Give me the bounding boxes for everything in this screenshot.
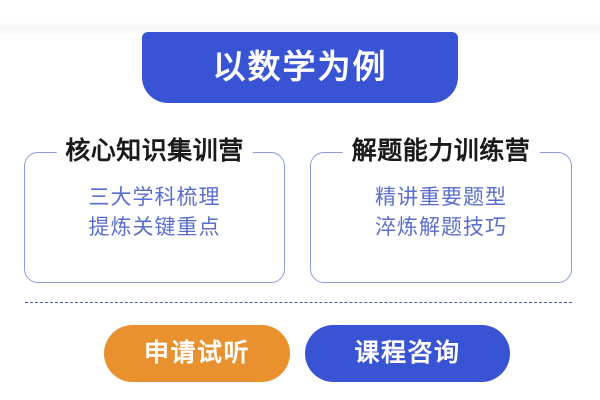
course-card-line: 提炼关键重点	[25, 213, 284, 243]
course-card-group: 核心知识集训营 三大学科梳理 提炼关键重点 解题能力训练营 精讲重要题型 淬炼解…	[24, 152, 572, 283]
promo-page: 以数学为例 核心知识集训营 三大学科梳理 提炼关键重点 解题能力训练营 精讲重要…	[0, 0, 600, 400]
dashed-divider	[25, 302, 572, 303]
action-button-row: 申请试听 课程咨询	[0, 325, 600, 383]
course-card-title: 解题能力训练营	[343, 136, 540, 166]
course-card-body: 三大学科梳理 提炼关键重点	[25, 183, 284, 243]
apply-trial-button[interactable]: 申请试听	[104, 325, 290, 382]
course-card-line: 精讲重要题型	[311, 183, 571, 213]
section-title-banner: 以数学为例	[142, 32, 458, 103]
course-card-line: 三大学科梳理	[25, 183, 284, 213]
course-card-core-knowledge[interactable]: 核心知识集训营 三大学科梳理 提炼关键重点	[24, 152, 285, 283]
section-title-text: 以数学为例	[213, 50, 388, 85]
course-consult-button[interactable]: 课程咨询	[305, 325, 510, 382]
course-card-body: 精讲重要题型 淬炼解题技巧	[311, 183, 571, 243]
course-card-line: 淬炼解题技巧	[311, 213, 571, 243]
course-card-problem-solving[interactable]: 解题能力训练营 精讲重要题型 淬炼解题技巧	[310, 152, 572, 283]
course-card-title: 核心知识集训营	[56, 136, 253, 166]
